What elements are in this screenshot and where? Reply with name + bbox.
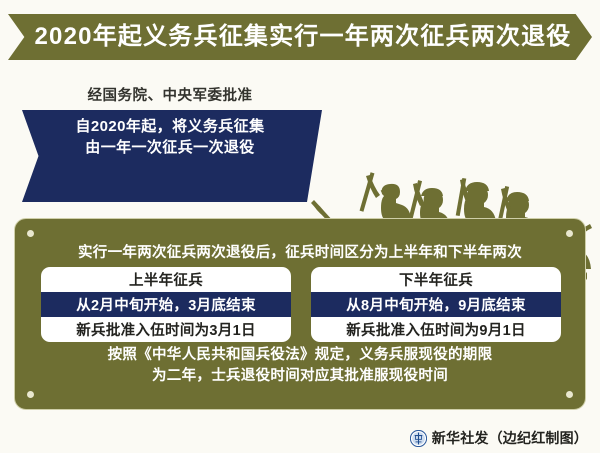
card-title: 上半年征兵 — [41, 267, 291, 292]
screw-dot-icon — [27, 391, 34, 398]
panel-note-line-1: 按照《中华人民共和国兵役法》规定，义务兵服现役的期限 — [15, 345, 585, 366]
panel-note-line-2: 为二年，士兵退役时间对应其批准服现役时间 — [15, 366, 585, 387]
card-title: 下半年征兵 — [311, 267, 561, 292]
policy-line-1: 自2020年起，将义务兵征集 — [30, 116, 310, 137]
upper-section: 经国务院、中央军委批准 自2020年起，将义务兵征集 由一年一次征兵一次退役 调… — [0, 62, 600, 214]
title-banner: 2020年起义务兵征集实行一年两次征兵两次退役 — [8, 14, 592, 60]
approval-statement: 经国务院、中央军委批准 — [30, 84, 310, 105]
credit-block: 新华社发（边纪红制图） — [410, 428, 588, 448]
panel-note: 按照《中华人民共和国兵役法》规定，义务兵服现役的期限 为二年，士兵退役时间对应其… — [15, 345, 585, 387]
policy-line-2: 由一年一次征兵一次退役 — [30, 137, 310, 158]
screw-dot-icon — [27, 230, 34, 237]
xinhua-emblem-icon — [410, 430, 427, 447]
screw-dot-icon — [566, 230, 573, 237]
card-enlist-date: 新兵批准入伍时间为9月1日 — [311, 317, 561, 342]
card-period: 从2月中旬开始，3月底结束 — [41, 292, 291, 317]
policy-text-block: 自2020年起，将义务兵征集 由一年一次征兵一次退役 — [30, 116, 310, 158]
timeline-panel: 实行一年两次征兵两次退役后，征兵时间区分为上半年和下半年两次 上半年征兵 从2月… — [14, 218, 586, 410]
conscription-cards: 上半年征兵 从2月中旬开始，3月底结束 新兵批准入伍时间为3月1日 下半年征兵 … — [41, 267, 561, 342]
card-first-half-year: 上半年征兵 从2月中旬开始，3月底结束 新兵批准入伍时间为3月1日 — [41, 267, 291, 342]
card-enlist-date: 新兵批准入伍时间为3月1日 — [41, 317, 291, 342]
infographic-root: 2020年起义务兵征集实行一年两次征兵两次退役 经国务院、中央军委批准 自202… — [0, 0, 600, 453]
credit-text: 新华社发（边纪红制图） — [432, 428, 588, 448]
card-second-half-year: 下半年征兵 从8月中旬开始，9月底结束 新兵批准入伍时间为9月1日 — [311, 267, 561, 342]
page-title: 2020年起义务兵征集实行一年两次征兵两次退役 — [29, 25, 572, 49]
screw-dot-icon — [566, 391, 573, 398]
panel-intro-text: 实行一年两次征兵两次退役后，征兵时间区分为上半年和下半年两次 — [15, 241, 585, 262]
card-period: 从8月中旬开始，9月底结束 — [311, 292, 561, 317]
